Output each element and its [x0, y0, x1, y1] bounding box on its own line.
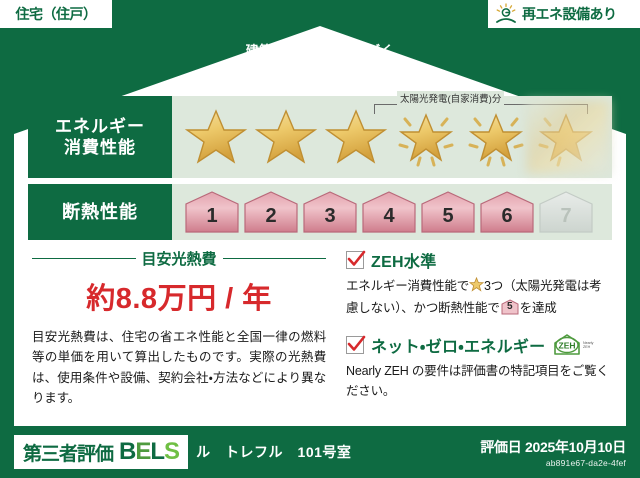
zeh-level-heading: ZEH水準	[346, 248, 612, 272]
lower-section: 目安光熱費 約8.8万円 / 年 目安光熱費は、住宅の省エネ性能と全国一律の燃料…	[28, 248, 612, 418]
net-zero-checkbox[interactable]	[346, 336, 364, 354]
redacted-region	[526, 100, 610, 174]
zeh-column: ZEH水準 エネルギー消費性能で3つ（太陽光発電は考慮しない）、かつ断熱性能で5…	[334, 248, 612, 418]
insulation-performance-row: 断熱性能	[28, 184, 612, 240]
bels-logo: BELS	[119, 438, 179, 466]
insulation-performance-value-cell: 1 2 3	[172, 184, 612, 240]
utility-cost-heading: 目安光熱費	[32, 248, 326, 269]
insulation-level-4: 4	[361, 190, 417, 234]
utility-cost-amount: 約8.8万円 / 年	[32, 275, 326, 317]
insulation-level-6: 6	[479, 190, 535, 234]
insulation-level-7: 7	[538, 190, 594, 234]
insulation-performance-label-cell: 断熱性能	[28, 184, 172, 240]
energy-performance-row: エネルギー 消費性能	[28, 96, 612, 178]
sun-solar-icon	[494, 3, 518, 25]
svg-text:ZEH: ZEH	[583, 345, 591, 349]
zeh-body-part1: エネルギー消費性能で	[346, 279, 469, 293]
utility-cost-column: 目安光熱費 約8.8万円 / 年 目安光熱費は、住宅の省エネ性能と全国一律の燃料…	[28, 248, 334, 418]
label-footer: 第三者評価 BELS ル トレフル 101号室 評価日 2025年10月10日 …	[0, 426, 640, 478]
evaluation-info: 評価日 2025年10月10日 ab891e67-da2e-4fef	[480, 437, 626, 468]
zeh-level-block: ZEH水準 エネルギー消費性能で3つ（太陽光発電は考慮しない）、かつ断熱性能で5…	[346, 248, 612, 319]
bels-letter-e: E	[135, 438, 150, 466]
insulation-level-5: 5	[420, 190, 476, 234]
star-icon-2	[252, 103, 320, 171]
housing-type-tag: 住宅（住戸）	[0, 0, 112, 28]
renewable-badge-text: 再エネ設備あり	[522, 4, 617, 24]
inline-star-icon	[469, 277, 484, 298]
net-zero-title: ネット・ゼロ・エネルギー	[371, 333, 545, 357]
energy-performance-label-cell: エネルギー 消費性能	[28, 96, 172, 178]
zeh-level-body: エネルギー消費性能で3つ（太陽光発電は考慮しない）、かつ断熱性能で5を達成	[346, 276, 612, 319]
energy-label-line1: エネルギー	[55, 116, 145, 137]
insulation-level-5-number: 5	[442, 206, 453, 234]
insulation-level-1-number: 1	[206, 206, 217, 234]
net-zero-heading: ネット・ゼロ・エネルギー ZEH Nearly ZEH	[346, 333, 612, 357]
rule-left	[32, 258, 136, 259]
star-icon-1	[182, 103, 250, 171]
utility-cost-heading-text: 目安光熱費	[142, 248, 217, 269]
bels-letter-b: B	[119, 438, 135, 466]
energy-performance-label: 住宅（住戸） 再エネ設備あり 建築物省エネ法に基づく 省エネ性能ラベル	[0, 0, 640, 478]
energy-performance-value-cell: 太陽光発電(自家消費)分	[172, 96, 612, 178]
zeh-level-title: ZEH水準	[371, 248, 437, 272]
evaluation-id: ab891e67-da2e-4fef	[480, 458, 626, 468]
zeh-body-part3: を達成	[520, 301, 557, 315]
insulation-level-6-number: 6	[501, 206, 512, 234]
insulation-level-4-number: 4	[383, 206, 394, 234]
inline-chip-number: 5	[501, 299, 519, 315]
label-content: エネルギー 消費性能	[28, 96, 612, 426]
net-zero-body: Nearly ZEH の要件は評価書の特記項目をご覧ください。	[346, 361, 612, 402]
insulation-level-3: 3	[302, 190, 358, 234]
net-zero-block: ネット・ゼロ・エネルギー ZEH Nearly ZEH Nearly ZEH の…	[346, 333, 612, 402]
bels-badge: 第三者評価 BELS	[14, 435, 188, 469]
star-rating-strip: 太陽光発電(自家消費)分	[172, 96, 612, 178]
svg-text:ZEH: ZEH	[559, 340, 576, 350]
insulation-label-text: 断熱性能	[62, 201, 138, 224]
bels-letter-l: L	[150, 438, 164, 466]
evaluation-date: 評価日 2025年10月10日	[480, 437, 626, 457]
housing-type-text: 住宅（住戸）	[16, 4, 97, 24]
energy-label-line2: 消費性能	[64, 137, 136, 158]
insulation-level-1: 1	[184, 190, 240, 234]
utility-cost-note: 目安光熱費は、住宅の省エネ性能と全国一律の燃料等の単価を用いて算出したものです。…	[32, 327, 326, 408]
property-name: ル トレフル 101号室	[196, 442, 351, 462]
rule-right	[223, 258, 327, 259]
renewable-equipment-badge: 再エネ設備あり	[488, 0, 640, 28]
third-party-eval-text: 第三者評価	[23, 439, 113, 466]
zeh-logo-icon: ZEH Nearly ZEH	[552, 333, 596, 357]
insulation-level-7-number: 7	[560, 206, 571, 234]
solar-portion-note: 太陽光発電(自家消費)分	[397, 91, 504, 105]
zeh-level-checkbox[interactable]	[346, 251, 364, 269]
inline-insulation-chip: 5	[501, 299, 519, 315]
bels-letter-s: S	[164, 438, 179, 466]
insulation-level-2: 2	[243, 190, 299, 234]
insulation-level-2-number: 2	[265, 206, 276, 234]
insulation-level-strip: 1 2 3	[172, 184, 594, 240]
insulation-level-3-number: 3	[324, 206, 335, 234]
